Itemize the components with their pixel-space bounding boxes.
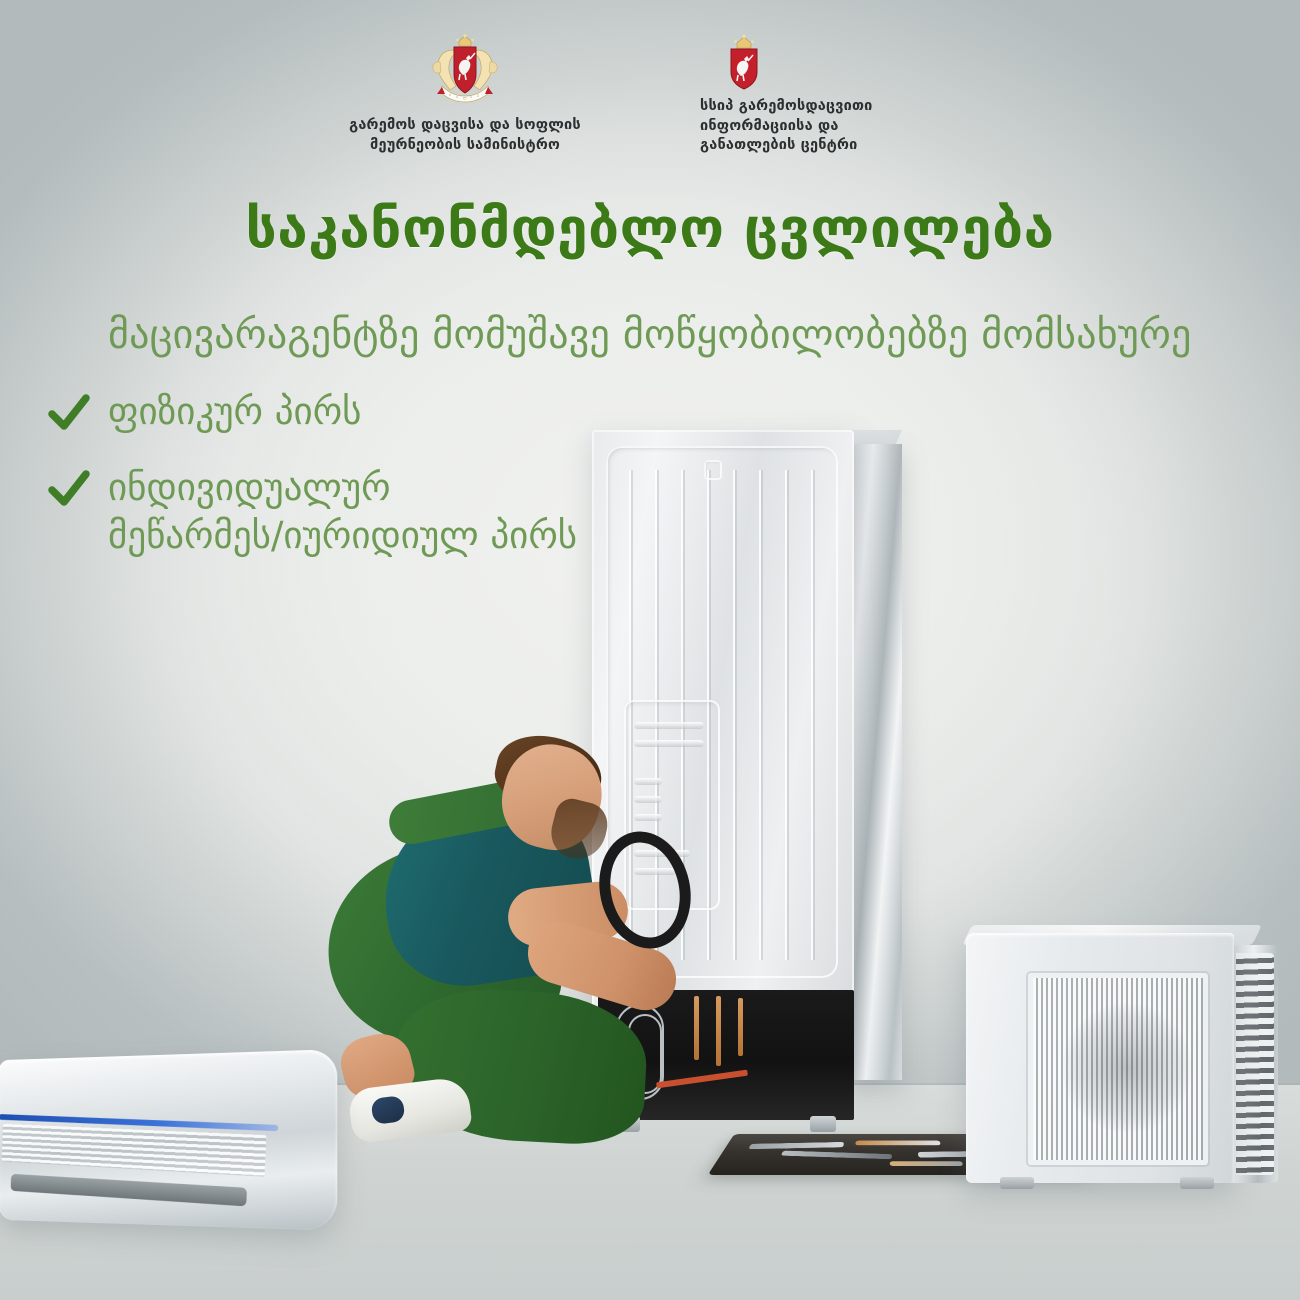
ac-outdoor-fan bbox=[1062, 1003, 1192, 1133]
svg-text:ა: ა bbox=[470, 95, 472, 99]
tool-screwdriver bbox=[855, 1141, 940, 1146]
scene-illustration bbox=[0, 0, 1300, 1300]
bullet-label: ფიზიკურ პირს bbox=[108, 388, 362, 436]
svg-text:ლ: ლ bbox=[463, 96, 467, 100]
svg-text:ძ: ძ bbox=[449, 93, 451, 97]
check-icon bbox=[48, 468, 90, 512]
ac-outdoor-unit bbox=[966, 925, 1278, 1195]
list-item: ინდივიდუალურ მეწარმეს/იურიდიულ პირს bbox=[48, 464, 577, 560]
tool-wrench bbox=[748, 1142, 844, 1149]
tool-cutter bbox=[890, 1161, 963, 1166]
ministry-logo-block: ძალაე გარემოს დაცვისა და სოფლის მეურნეობ… bbox=[300, 34, 630, 155]
ministry-logo-text: გარემოს დაცვისა და სოფლის მეურნეობის სამ… bbox=[349, 115, 581, 155]
ac-indoor-air-outlet bbox=[11, 1174, 247, 1207]
center-logo-text: სსიპ გარემოსდაცვითი ინფორმაციისა და განა… bbox=[700, 97, 873, 156]
ac-indoor-unit bbox=[0, 1055, 330, 1225]
tool-pliers bbox=[781, 1151, 892, 1160]
georgian-shield-emblem-icon bbox=[722, 34, 766, 92]
bullet-label: ინდივიდუალურ მეწარმეს/იურიდიულ პირს bbox=[108, 464, 577, 560]
ac-indoor-body bbox=[0, 1049, 337, 1231]
georgian-coat-of-arms-full-icon: ძალაე bbox=[426, 34, 504, 108]
page-title: საკანონმდებლო ცვლილება bbox=[0, 196, 1300, 260]
header: ძალაე გარემოს დაცვისა და სოფლის მეურნეობ… bbox=[0, 34, 1300, 156]
check-icon bbox=[48, 392, 90, 436]
svg-text:ა: ა bbox=[456, 95, 458, 99]
bullet-list: ფიზიკურ პირს ინდივიდუალურ მეწარმეს/იურიდ… bbox=[48, 388, 577, 588]
copper-tube bbox=[694, 996, 699, 1060]
copper-tube bbox=[716, 996, 721, 1066]
refrigerator-foot bbox=[810, 1116, 836, 1132]
ac-outdoor-foot bbox=[1180, 1177, 1214, 1189]
page-subtitle: მაცივარაგენტზე მომუშავე მოწყობილობებზე მ… bbox=[108, 312, 1210, 358]
ac-outdoor-body bbox=[966, 933, 1234, 1183]
ac-outdoor-side-slats bbox=[1236, 953, 1274, 1175]
refrigerator-notch bbox=[704, 460, 722, 480]
copper-tube bbox=[738, 998, 743, 1056]
list-item: ფიზიკურ პირს bbox=[48, 388, 577, 436]
ac-outdoor-foot bbox=[1000, 1177, 1034, 1189]
technician-figure bbox=[300, 735, 680, 1175]
center-logo-block: სსიპ გარემოსდაცვითი ინფორმაციისა და განა… bbox=[700, 34, 1000, 156]
refrigerator-side-panel bbox=[850, 444, 902, 1080]
svg-text:ე: ე bbox=[477, 93, 479, 97]
poster-root: ძალაე გარემოს დაცვისა და სოფლის მეურნეობ… bbox=[0, 0, 1300, 1300]
ac-indoor-louvers bbox=[1, 1124, 266, 1177]
